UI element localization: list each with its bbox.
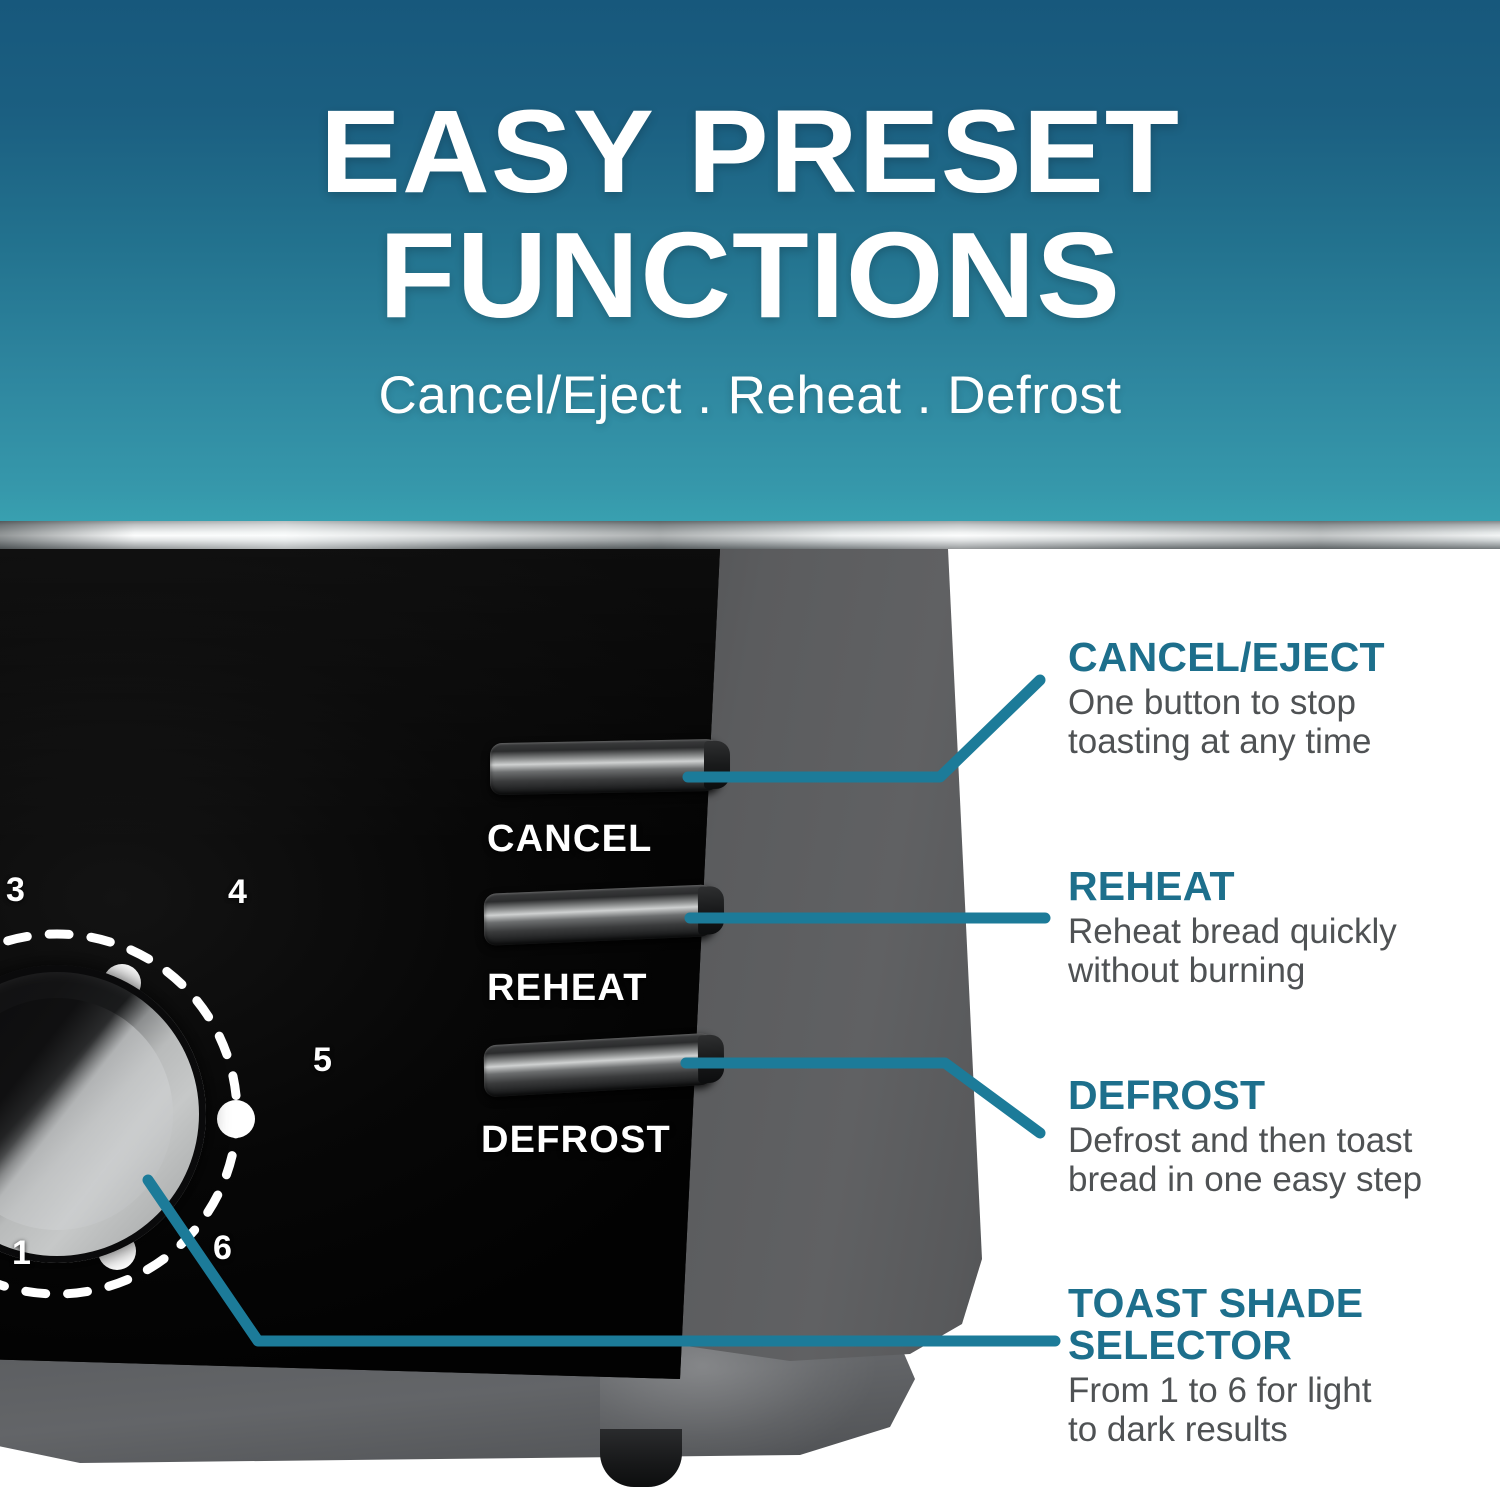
dial-mark-1: 1 — [12, 1236, 31, 1270]
chrome-divider — [0, 521, 1500, 549]
header-text-block: EASY PRESET FUNCTIONS Cancel/Eject . Reh… — [0, 98, 1500, 426]
dial-mark-6: 6 — [213, 1231, 232, 1265]
callout-body-line1: Defrost and then toast — [1068, 1121, 1412, 1160]
defrost-button-label: DEFROST — [481, 1121, 671, 1159]
reheat-button[interactable] — [484, 884, 716, 946]
page-title-line2: FUNCTIONS — [0, 219, 1500, 331]
reheat-button-label: REHEAT — [487, 969, 648, 1007]
callout-body-reheat: Reheat bread quickly without burning — [1068, 912, 1488, 990]
reheat-button-edge — [698, 886, 724, 935]
cancel-button-label: CANCEL — [487, 820, 653, 858]
page-title-line1: EASY PRESET — [0, 98, 1500, 207]
callout-body-cancel-eject: One button to stop toasting at any time — [1068, 683, 1488, 761]
callout-title-defrost: DEFROST — [1068, 1075, 1488, 1117]
callout-body-line1: From 1 to 6 for light — [1068, 1371, 1371, 1410]
defrost-button-edge — [698, 1034, 725, 1083]
callout-body-line2: to dark results — [1068, 1410, 1288, 1449]
callout-title-line2: SELECTOR — [1068, 1322, 1292, 1368]
dial-mark-3: 3 — [6, 873, 25, 907]
callout-body-toast-shade-selector: From 1 to 6 for light to dark results — [1068, 1371, 1488, 1449]
infographic-page: EASY PRESET FUNCTIONS Cancel/Eject . Reh… — [0, 0, 1500, 1500]
callout-title-cancel-eject: CANCEL/EJECT — [1068, 637, 1488, 679]
callout-title-toast-shade-selector: TOAST SHADE SELECTOR — [1068, 1283, 1488, 1367]
toaster-foot — [600, 1429, 682, 1487]
page-subtitle: Cancel/Eject . Reheat . Defrost — [0, 365, 1500, 426]
callout-reheat: REHEAT Reheat bread quickly without burn… — [1068, 866, 1488, 990]
callout-body-defrost: Defrost and then toast bread in one easy… — [1068, 1121, 1488, 1199]
callout-body-line2: bread in one easy step — [1068, 1160, 1422, 1199]
callout-title-reheat: REHEAT — [1068, 866, 1488, 908]
callout-cancel-eject: CANCEL/EJECT One button to stop toasting… — [1068, 637, 1488, 761]
callout-toast-shade-selector: TOAST SHADE SELECTOR From 1 to 6 for lig… — [1068, 1283, 1488, 1449]
dial-mark-5: 5 — [313, 1043, 332, 1077]
callout-body-line1: One button to stop — [1068, 683, 1356, 722]
callout-defrost: DEFROST Defrost and then toast bread in … — [1068, 1075, 1488, 1199]
header-banner: EASY PRESET FUNCTIONS Cancel/Eject . Reh… — [0, 0, 1500, 521]
callout-body-line2: without burning — [1068, 951, 1305, 990]
cancel-button[interactable] — [490, 739, 722, 795]
callout-body-line2: toasting at any time — [1068, 722, 1372, 761]
callout-title-line1: TOAST SHADE — [1068, 1280, 1363, 1326]
cancel-button-edge — [704, 741, 730, 789]
dial-mark-4: 4 — [228, 875, 247, 909]
callout-body-line1: Reheat bread quickly — [1068, 912, 1397, 951]
front-panel-sheen — [0, 549, 720, 849]
